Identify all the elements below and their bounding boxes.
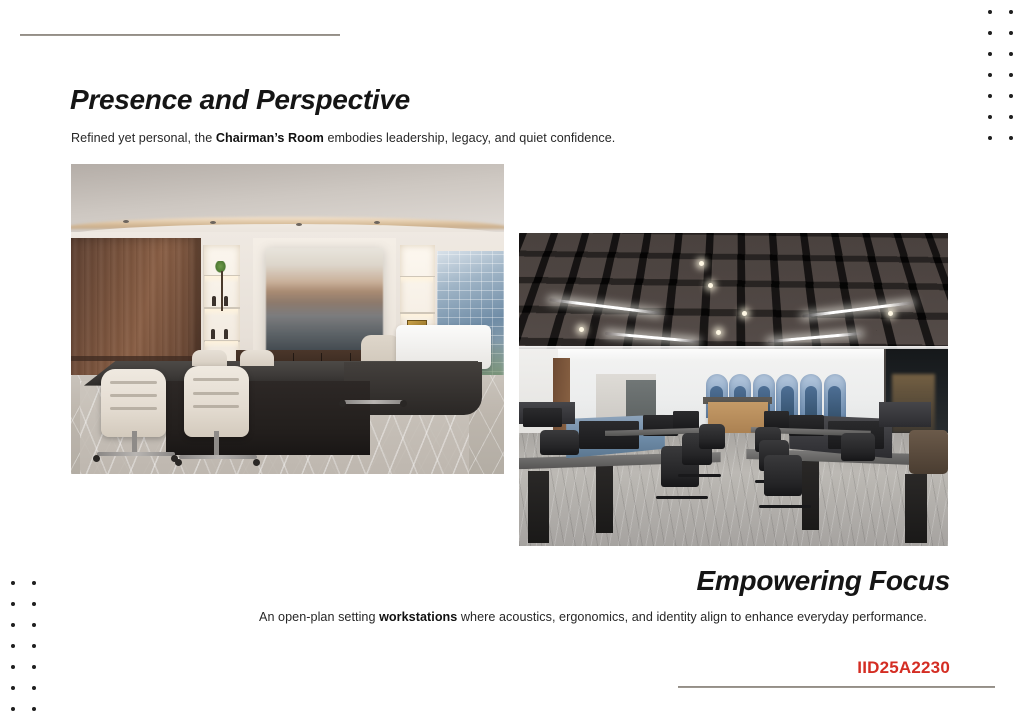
chair-base (759, 505, 810, 508)
visitor-chair (909, 430, 948, 474)
desk-leg (528, 471, 549, 543)
chair-caster (253, 459, 260, 466)
photo-chairmans-room (71, 164, 504, 474)
dot (988, 115, 992, 119)
acoustic-arch-panel (800, 374, 822, 418)
chair-post (214, 431, 219, 456)
acoustic-arch-panel (824, 374, 846, 418)
body-bottom-after: where acoustics, ergonomics, and identit… (457, 610, 927, 624)
chairmans-room-scene (71, 164, 504, 474)
body-bottom-before: An open-plan setting (259, 610, 379, 624)
dot (1009, 73, 1013, 77)
arch-inner (805, 386, 817, 417)
niche-shelf-glow (401, 277, 433, 284)
chair-base (656, 496, 707, 499)
dot (1009, 115, 1013, 119)
body-bottom-bold: workstations (379, 610, 457, 624)
dot (988, 31, 992, 35)
shelf-object (211, 329, 215, 339)
downlight (123, 220, 129, 223)
dot (11, 686, 15, 690)
body-top-bold: Chairman’s Room (216, 131, 324, 145)
workstation-scene (519, 233, 948, 546)
photo-open-plan-workstations (519, 233, 948, 546)
chair-seam (110, 381, 157, 384)
dot (1009, 31, 1013, 35)
dot (32, 623, 36, 627)
monitor (673, 411, 699, 430)
page-title-empowering-focus: Empowering Focus (697, 565, 950, 597)
chair-seam (193, 405, 240, 408)
dot (1009, 94, 1013, 98)
task-chair (540, 430, 579, 455)
dot (32, 707, 36, 711)
shelf-object (212, 296, 216, 306)
dot (988, 10, 992, 14)
body-top-after: embodies leadership, legacy, and quiet c… (324, 131, 615, 145)
bonsai-pot (221, 271, 224, 312)
bottom-right-divider (678, 686, 995, 688)
body-top-before: Refined yet personal, the (71, 131, 216, 145)
top-left-divider (20, 34, 340, 36)
body-text-top: Refined yet personal, the Chairman’s Roo… (71, 131, 615, 145)
dot (11, 602, 15, 606)
chair-base (179, 455, 257, 459)
dot (988, 94, 992, 98)
chair-caster (175, 459, 182, 466)
shelf-object (224, 296, 228, 306)
slide-canvas: Presence and Perspective Refined yet per… (0, 0, 1024, 723)
dark-partition-right (879, 402, 930, 427)
dot (11, 623, 15, 627)
dot (32, 644, 36, 648)
downlight (296, 223, 302, 226)
chair-base (678, 474, 721, 477)
chair-base (344, 400, 405, 404)
dot (988, 136, 992, 140)
shelf-object (224, 329, 228, 339)
project-code-label: IID25A2230 (857, 658, 950, 678)
dot (1009, 52, 1013, 56)
dot (32, 686, 36, 690)
dot (11, 665, 15, 669)
chair-far (192, 350, 227, 366)
chair-base (97, 452, 175, 456)
task-chair (841, 433, 875, 461)
task-chair (764, 455, 803, 496)
chair-caster (400, 400, 407, 407)
chair-seam (110, 407, 157, 410)
ceiling-spotlight (708, 283, 713, 288)
dot (988, 73, 992, 77)
dot-grid-bottom-left (11, 581, 53, 723)
dot (32, 665, 36, 669)
dot (11, 707, 15, 711)
chair-seam (193, 392, 240, 395)
page-title-presence-and-perspective: Presence and Perspective (70, 84, 410, 116)
desk-leg (802, 461, 819, 530)
monitor (523, 408, 562, 427)
leather-chair (101, 369, 166, 437)
dot-grid-top-right (988, 10, 1024, 157)
chair-seam (193, 378, 240, 381)
leather-chair (184, 366, 249, 437)
dot (1009, 136, 1013, 140)
task-chair (699, 424, 725, 449)
chair-seam (110, 394, 157, 397)
dot (11, 581, 15, 585)
dot (988, 52, 992, 56)
dot (11, 644, 15, 648)
niche-shelf-glow (205, 341, 238, 348)
ceiling-spotlight (579, 327, 584, 332)
paneling-reveal-band (71, 356, 201, 360)
dot (32, 602, 36, 606)
dot (1009, 10, 1013, 14)
desk-leg (905, 474, 926, 543)
arch-inner (828, 386, 840, 417)
dot (32, 581, 36, 585)
desk-leg (596, 465, 613, 534)
chair-far (240, 350, 275, 366)
body-text-bottom: An open-plan setting workstations where … (259, 610, 927, 624)
